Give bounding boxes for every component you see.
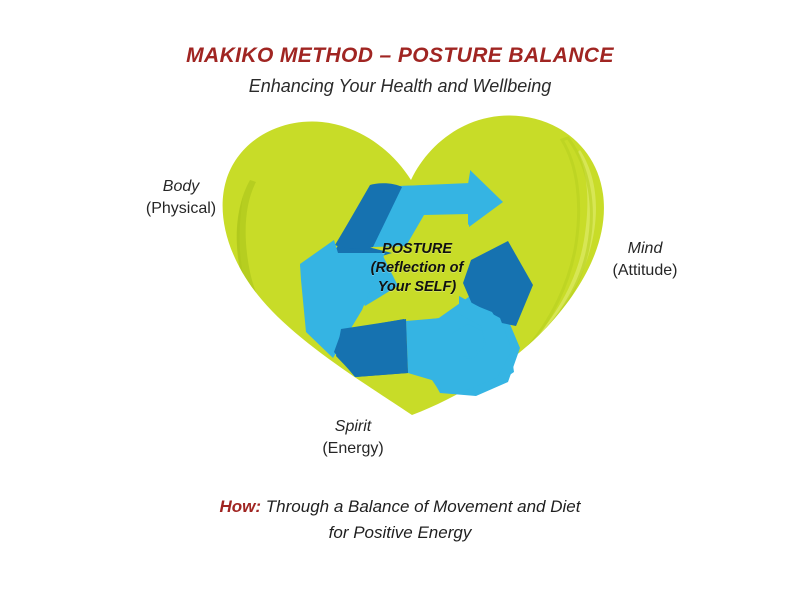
footer-caption: How: Through a Balance of Movement and D… xyxy=(0,494,800,546)
recycle-arrow-bottom-body xyxy=(336,319,408,377)
label-mind: Mind (Attitude) xyxy=(570,238,720,281)
recycle-arrow-bottom-light xyxy=(407,318,462,392)
center-caption-line-1: POSTURE xyxy=(332,240,502,259)
label-body: Body (Physical) xyxy=(106,176,256,219)
recycle-arrow-right-main xyxy=(436,296,512,392)
label-spirit-paren: (Energy) xyxy=(278,438,428,460)
center-caption: POSTURE (Reflection of Your SELF) xyxy=(332,240,502,297)
footer-line-2: for Positive Energy xyxy=(0,520,800,546)
center-caption-line-2: (Reflection of xyxy=(332,259,502,278)
footer-how-text: Through a Balance of Movement and Diet xyxy=(261,497,580,516)
label-spirit: Spirit (Energy) xyxy=(278,416,428,459)
recycle-arrow-bottom-right xyxy=(409,312,514,392)
slide-canvas: MAKIKO METHOD – POSTURE BALANCE Enhancin… xyxy=(0,0,800,600)
page-subtitle: Enhancing Your Health and Wellbeing xyxy=(0,77,800,97)
label-body-lead: Body xyxy=(106,176,256,198)
title-block: MAKIKO METHOD – POSTURE BALANCE Enhancin… xyxy=(0,44,800,97)
recycle-arrow-bottom-dark xyxy=(334,319,408,377)
label-spirit-lead: Spirit xyxy=(278,416,428,438)
footer-how-label: How: xyxy=(220,497,262,516)
label-mind-paren: (Attitude) xyxy=(570,260,720,282)
recycle-arrow-top-light xyxy=(372,172,500,246)
recycle-arrow-right-arm xyxy=(418,296,520,396)
footer-line-1: How: Through a Balance of Movement and D… xyxy=(0,494,800,520)
recycle-arrow-top xyxy=(373,170,503,247)
label-body-paren: (Physical) xyxy=(106,198,256,220)
center-caption-line-3: Your SELF) xyxy=(332,278,502,297)
recycle-arrow-right-tail xyxy=(432,300,505,392)
recycle-arrow-top-shadow xyxy=(336,183,402,248)
page-title: MAKIKO METHOD – POSTURE BALANCE xyxy=(0,44,800,67)
label-mind-lead: Mind xyxy=(570,238,720,260)
recycle-arrow-bottom-head xyxy=(406,318,466,392)
